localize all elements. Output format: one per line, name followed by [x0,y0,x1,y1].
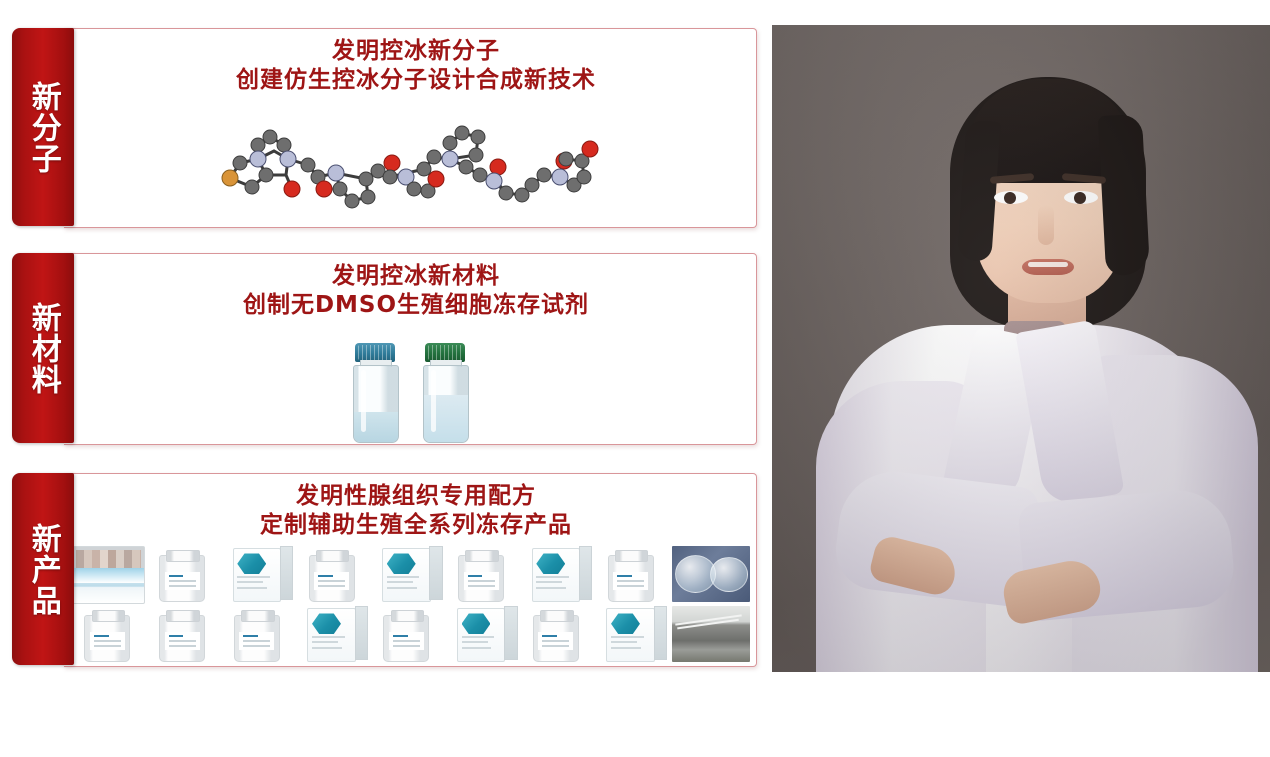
titles-new-material: 发明控冰新材料 创制无DMSO生殖细胞冻存试剂 [76,254,756,321]
product-item-bottle [222,606,293,662]
eye-left [994,191,1028,204]
product-item-bottle [72,606,143,662]
vial-green-cap [421,343,469,441]
mouth [1022,259,1074,275]
product-item-bottle [521,606,592,662]
product-item-bottle [147,546,218,602]
card-new-material: 发明控冰新材料 创制无DMSO生殖细胞冻存试剂 [64,253,757,445]
hair-right-strand [1098,114,1150,276]
vial-blue-cap [351,343,399,441]
tab-new-material[interactable]: 新材料 [12,253,74,443]
product-grid [72,546,666,662]
panel2-title-line1: 发明控冰新材料 [76,262,756,291]
molecule-structure-figure [64,115,756,225]
slide-root: 新分子 发明控冰新分子 创建仿生控冰分子设计合成新技术 [0,0,1270,757]
eye-right [1064,191,1098,204]
tab-new-product[interactable]: 新产品 [12,473,74,665]
tab-label-new-material: 新材料 [25,302,60,395]
product-item-box [521,546,592,602]
panel1-title-line2: 创建仿生控冰分子设计合成新技术 [76,66,756,95]
tab-label-new-product: 新产品 [25,523,60,616]
card-new-product: 发明性腺组织专用配方 定制辅助生殖全系列冻存产品 [64,473,757,667]
nose [1038,205,1054,245]
vial-body [423,365,469,443]
achievements-column: 新分子 发明控冰新分子 创建仿生控冰分子设计合成新技术 [0,0,765,757]
panel-new-molecule: 新分子 发明控冰新分子 创建仿生控冰分子设计合成新技术 [12,28,757,226]
product-item-box [222,546,293,602]
tab-new-molecule[interactable]: 新分子 [12,28,74,226]
panel-new-material: 新材料 发明控冰新材料 创制无DMSO生殖细胞冻存试剂 [12,253,757,443]
vial-body [353,365,399,443]
portrait-figure [772,25,1270,672]
panel2-title-line2: 创制无DMSO生殖细胞冻存试剂 [76,291,756,320]
side-photo-column [672,546,750,662]
product-item-box [296,606,367,662]
product-item-bottle [446,546,517,602]
product-item-box [446,606,517,662]
petri-dishes-photo [672,546,750,602]
titles-new-product: 发明性腺组织专用配方 定制辅助生殖全系列冻存产品 [76,474,756,541]
lab-equipment-photo [672,606,750,662]
product-item-bottle [296,546,367,602]
cryo-vials-figure [64,336,756,441]
product-item-bottle [147,606,218,662]
tab-label-new-molecule: 新分子 [25,81,60,174]
panel1-title-line1: 发明控冰新分子 [76,37,756,66]
product-item-box [371,546,442,602]
product-lineup-figure [72,546,750,662]
panel3-title-line1: 发明性腺组织专用配方 [76,482,756,511]
product-item-bottle [371,606,442,662]
panel3-title-line2: 定制辅助生殖全系列冻存产品 [76,511,756,540]
card-new-molecule: 发明控冰新分子 创建仿生控冰分子设计合成新技术 [64,28,757,228]
product-item-box [595,606,666,662]
molecule-structure-svg [200,115,620,223]
panel-new-product: 新产品 发明性腺组织专用配方 定制辅助生殖全系列冻存产品 [12,473,757,665]
product-item-pack [72,546,143,602]
researcher-portrait-photo [772,25,1270,672]
product-item-bottle [595,546,666,602]
titles-new-molecule: 发明控冰新分子 创建仿生控冰分子设计合成新技术 [76,29,756,96]
